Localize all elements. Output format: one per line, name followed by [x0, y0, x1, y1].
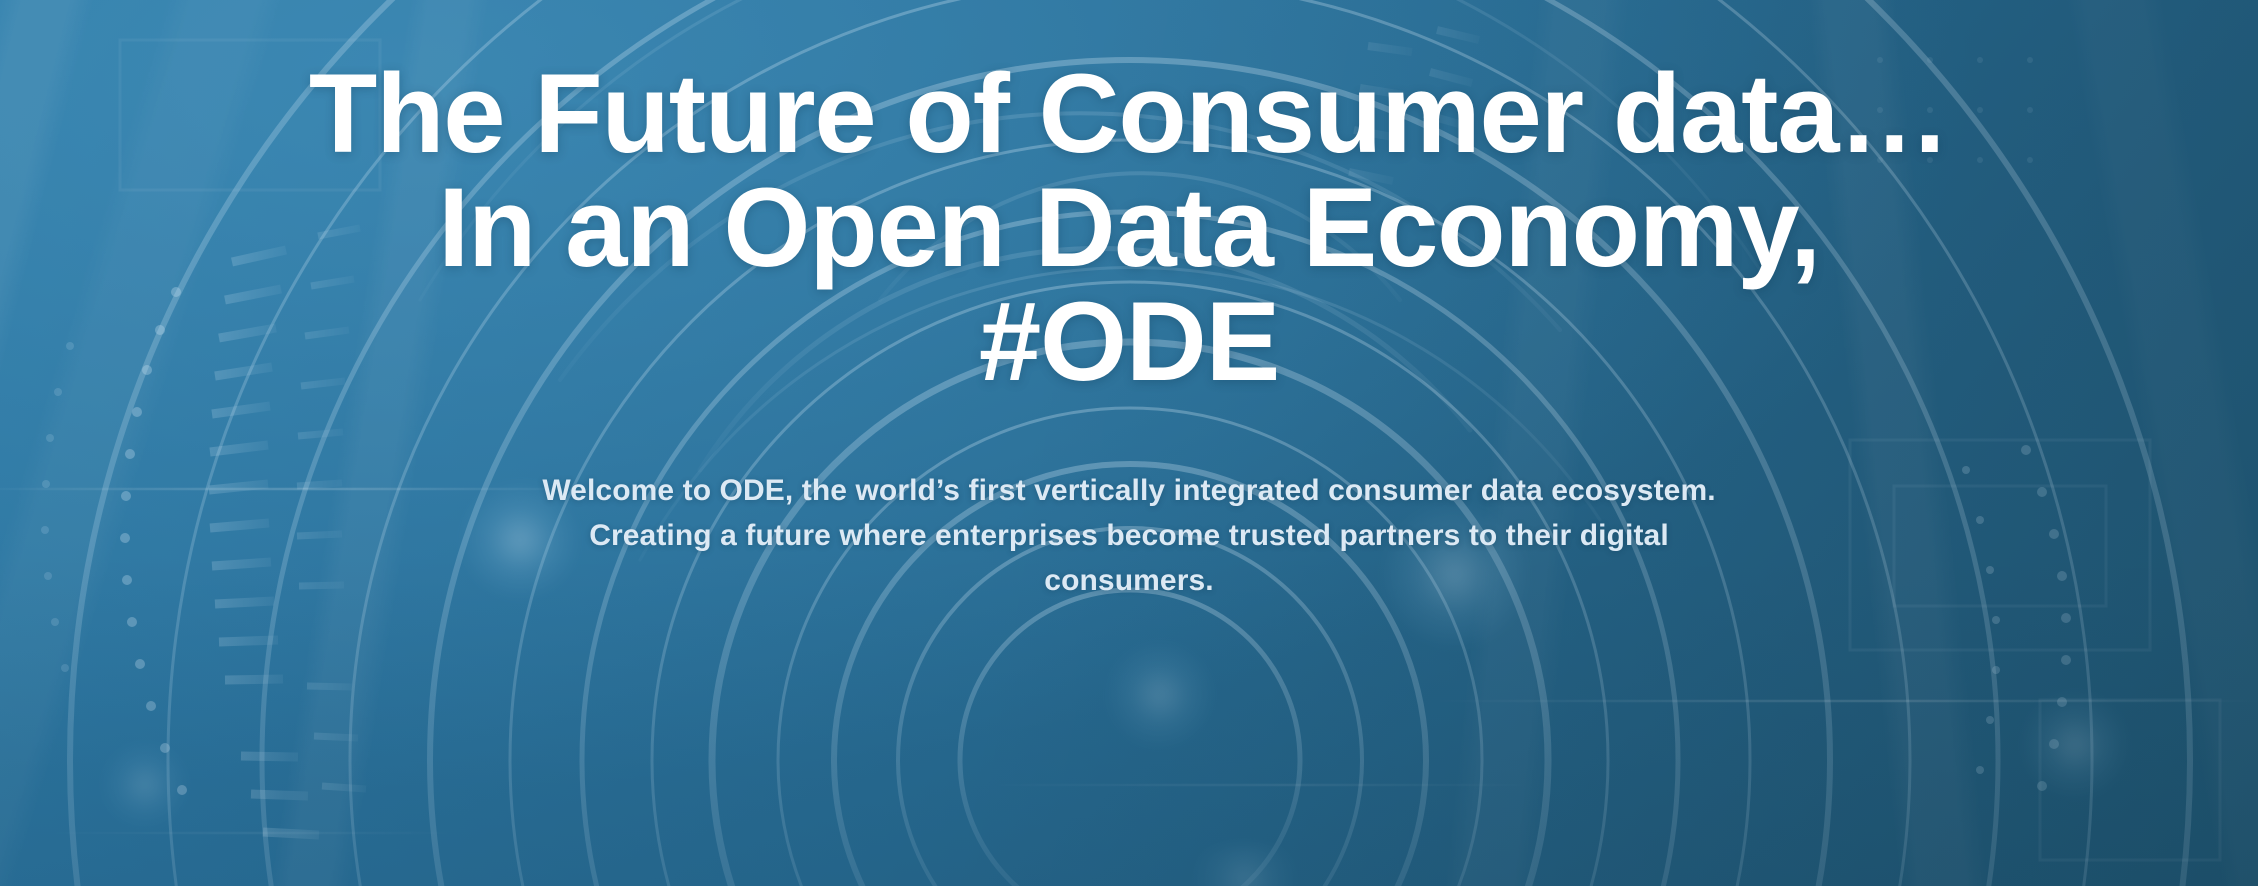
hero-content: The Future of Consumer data… In an Open …: [0, 0, 2258, 886]
hero-title-line-1: The Future of Consumer data…: [34, 58, 2224, 170]
hero-title-line-2: In an Open Data Economy,: [34, 172, 2224, 284]
hero-subtitle: Welcome to ODE, the world’s first vertic…: [509, 468, 1749, 603]
hero-banner: The Future of Consumer data… In an Open …: [0, 0, 2258, 886]
hero-title: The Future of Consumer data… In an Open …: [34, 58, 2224, 398]
hero-title-line-3: #ODE: [34, 286, 2224, 398]
